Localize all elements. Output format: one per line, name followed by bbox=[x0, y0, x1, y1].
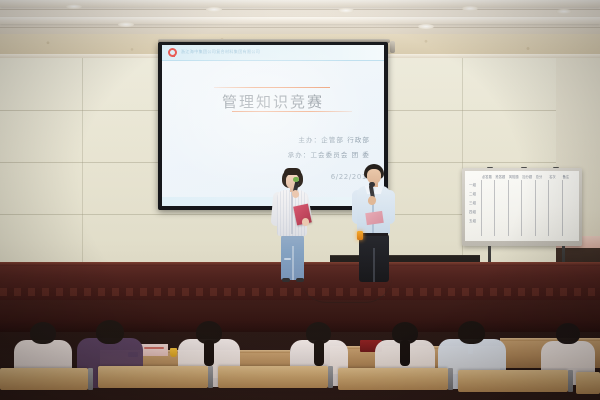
slide-organizer-line: 主办：企管部 行政部 bbox=[298, 134, 370, 144]
audience-member-head bbox=[196, 321, 222, 344]
presenter-female-fringe bbox=[284, 168, 301, 175]
ceiling-light-icon bbox=[556, 9, 572, 14]
microphone-head bbox=[293, 177, 299, 182]
ceiling-light-icon bbox=[418, 24, 434, 29]
audience-member-head bbox=[392, 322, 418, 344]
whiteboard-column-divider bbox=[548, 180, 549, 236]
whiteboard-row-label: 五组 bbox=[469, 218, 476, 223]
ceiling-light-icon bbox=[206, 7, 222, 12]
whiteboard-row-label: 一组 bbox=[469, 182, 476, 187]
whiteboard-column-divider bbox=[562, 180, 563, 236]
ceiling-panel-seam bbox=[0, 9, 600, 10]
chair-bracket bbox=[328, 366, 333, 388]
whiteboard-column-header: 加分题 bbox=[522, 174, 532, 179]
script-paper bbox=[365, 211, 384, 225]
slide-title-rule-bottom bbox=[232, 111, 352, 112]
projector-glow bbox=[162, 45, 384, 206]
whiteboard-row-label: 二组 bbox=[469, 191, 476, 196]
whiteboard-column-divider bbox=[481, 180, 482, 236]
whiteboard-column-header: 抢答题 bbox=[495, 174, 505, 179]
ceiling-light-icon bbox=[462, 6, 478, 11]
ceiling-light-icon bbox=[118, 22, 134, 27]
slide-title: 管理知识竞赛 bbox=[162, 91, 384, 112]
chair-bracket bbox=[448, 368, 453, 390]
audience-member-head bbox=[458, 321, 485, 344]
whiteboard-column-header: 备注 bbox=[563, 174, 570, 179]
jeans-seam bbox=[292, 246, 294, 280]
chair-back bbox=[576, 372, 600, 394]
red-name-card bbox=[140, 344, 168, 356]
audience-member-head bbox=[306, 322, 331, 344]
presenter-female-shoe bbox=[296, 278, 304, 282]
whiteboard-column-divider bbox=[508, 180, 509, 236]
whiteboard-column-header: 名次 bbox=[549, 174, 556, 179]
ceiling bbox=[0, 0, 600, 34]
screen-pull-knob[interactable] bbox=[390, 41, 395, 53]
whiteboard-row-label: 三组 bbox=[469, 200, 476, 205]
presenter-female-shoe bbox=[282, 278, 290, 282]
stage-floor bbox=[0, 300, 600, 332]
ceiling-beam bbox=[0, 0, 600, 7]
whiteboard-column-divider bbox=[535, 180, 536, 236]
company-logo-icon bbox=[168, 48, 177, 57]
wainscot-molding bbox=[0, 288, 600, 296]
chair-back bbox=[98, 366, 208, 388]
chair-bracket bbox=[568, 370, 573, 392]
lecture-hall-photo: 浙江海中集团公司复合材料集团有限公司 管理知识竞赛 主办：企管部 行政部 承办：… bbox=[0, 0, 600, 400]
ceiling-beam bbox=[0, 17, 600, 24]
ceiling-light-icon bbox=[338, 8, 354, 13]
chair-back bbox=[218, 366, 328, 388]
whiteboard-scoring-table[interactable]: 必答题抢答题风险题加分题总分名次备注一组二组三组四组五组 bbox=[465, 171, 579, 241]
chair-bracket bbox=[208, 366, 213, 388]
mic-transmitter-icon bbox=[357, 231, 363, 240]
audience-member-head bbox=[556, 323, 580, 344]
slide-company-name: 浙江海中集团公司复合材料集团有限公司 bbox=[181, 49, 260, 55]
audience-member-head bbox=[96, 320, 124, 344]
whiteboard-column-divider bbox=[494, 180, 495, 236]
audience-member-head bbox=[30, 322, 56, 344]
slide-title-rule-top bbox=[214, 87, 330, 88]
trouser-seam bbox=[373, 248, 375, 282]
shirt-placket bbox=[291, 192, 293, 234]
slide-co-organizer-line: 承办：工会委员会 团 委 bbox=[288, 149, 370, 159]
cup-icon bbox=[170, 348, 177, 357]
chair-bracket bbox=[88, 368, 93, 390]
jeans-distress-detail bbox=[284, 258, 291, 260]
whiteboard-column-header: 风险题 bbox=[509, 174, 519, 179]
projection-screen: 浙江海中集团公司复合材料集团有限公司 管理知识竞赛 主办：企管部 行政部 承办：… bbox=[162, 45, 384, 206]
ceiling-light-icon bbox=[66, 4, 82, 9]
chair-back bbox=[338, 368, 448, 390]
microphone-head bbox=[369, 182, 375, 187]
chair-back bbox=[458, 370, 568, 392]
chair-back bbox=[0, 368, 88, 390]
whiteboard-column-divider bbox=[521, 180, 522, 236]
whiteboard-column-header: 总分 bbox=[536, 174, 543, 179]
presenter-female-hand bbox=[302, 218, 309, 226]
slide-header-rule bbox=[162, 60, 384, 61]
name-card-text bbox=[144, 347, 164, 349]
presenter-male-belt bbox=[360, 233, 388, 236]
whiteboard-column-header: 必答题 bbox=[482, 174, 492, 179]
whiteboard-row-label: 四组 bbox=[469, 209, 476, 214]
wall-seam bbox=[82, 58, 83, 270]
ceiling-panel-seam bbox=[0, 27, 600, 28]
